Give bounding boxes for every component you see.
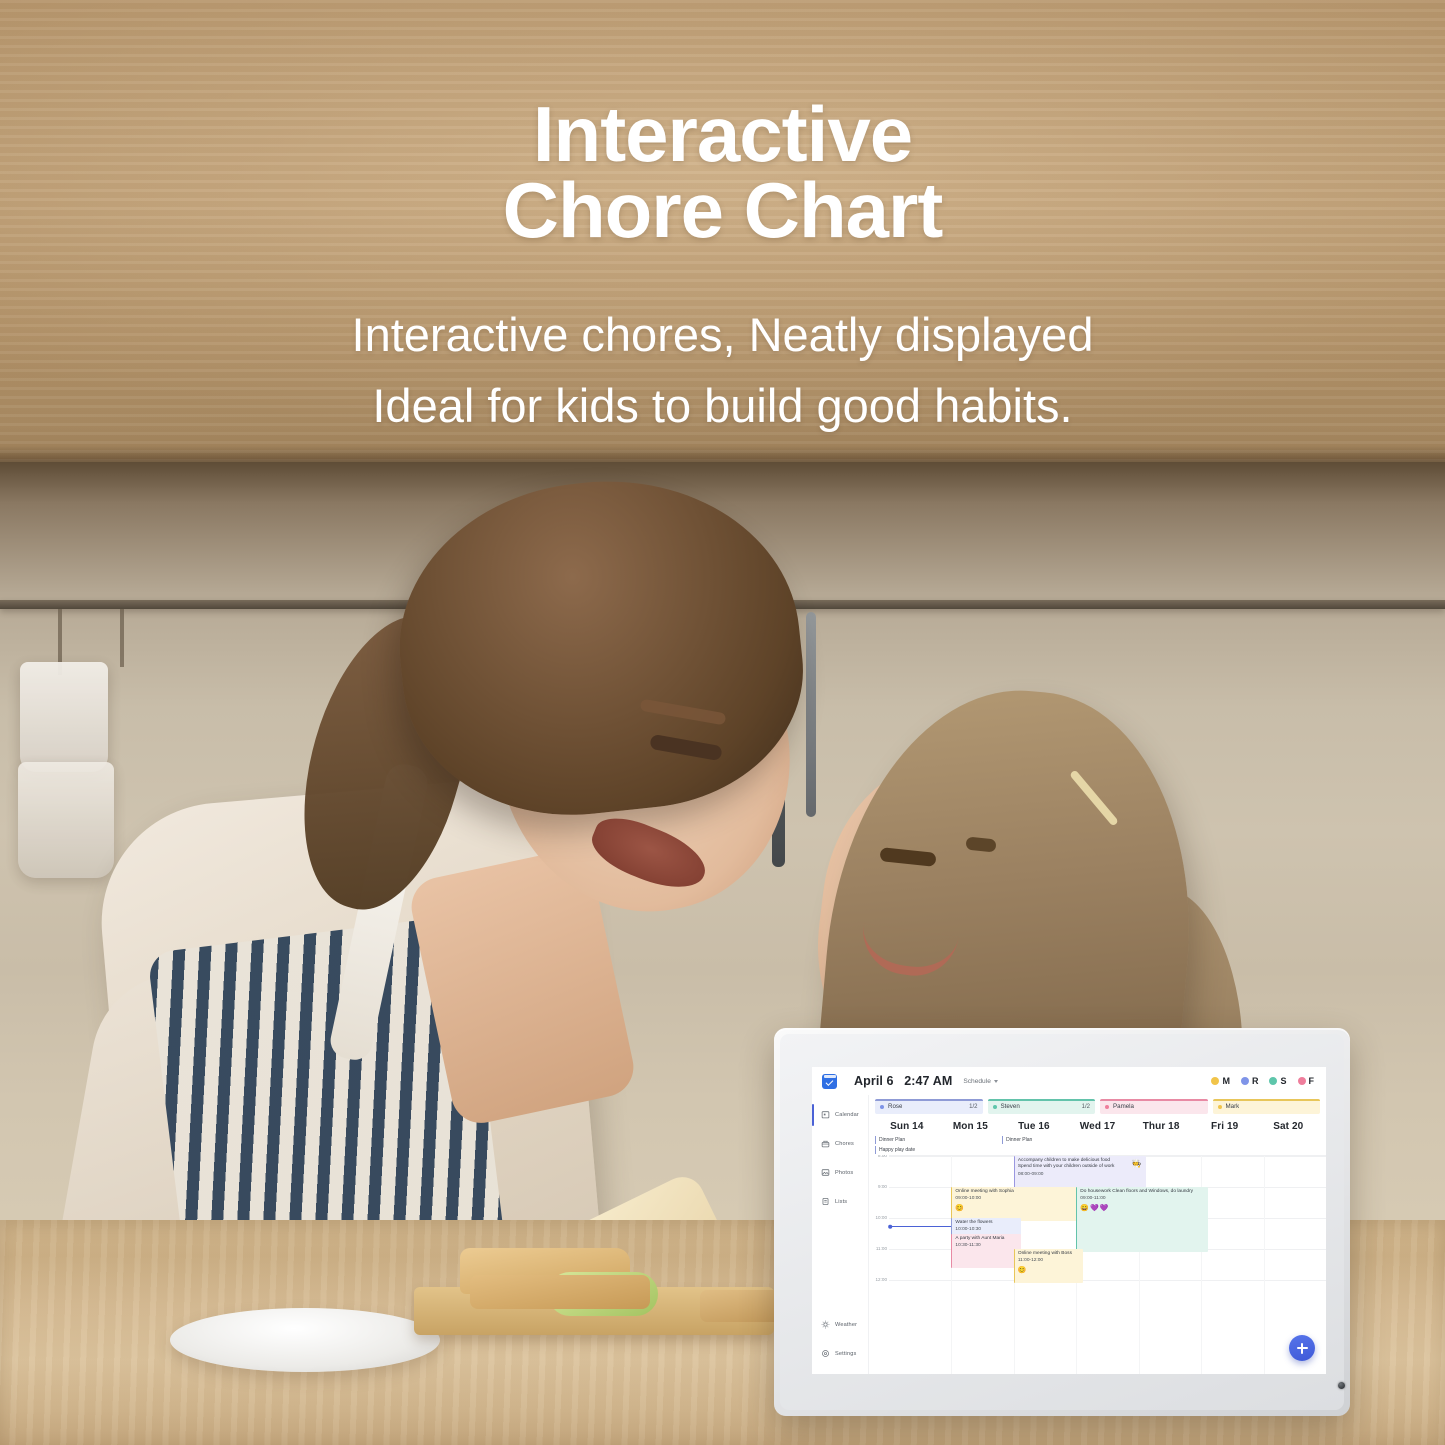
time-label: 8:00 [878, 1155, 887, 1158]
bread-slice [470, 1275, 650, 1309]
event-title: Online meeting with Boss [1018, 1251, 1080, 1257]
calendar-event[interactable]: A party with Aunt Maria10:30-11:30 [951, 1234, 1020, 1268]
poster-headline: Interactive Chore Chart [0, 96, 1445, 249]
app-body: Calendar Chores Photos [812, 1095, 1326, 1374]
all-day-event[interactable]: Dinner Plan [1002, 1136, 1064, 1144]
event-title: Online meeting with Sophia [955, 1189, 1080, 1195]
time-grid-wrapper[interactable]: 8:009:0010:0011:0012:00 Accompany childr… [869, 1155, 1326, 1374]
person-dot [880, 1105, 884, 1109]
calendar-pane: Rose1/2Steven1/2PamelaMark Sun 14Mon 15T… [869, 1095, 1326, 1374]
date-time-display: April 6 2:47 AM [854, 1074, 952, 1088]
event-title: A party with Aunt Maria [955, 1236, 1017, 1242]
sidebar-item-calendar[interactable]: Calendar [812, 1100, 868, 1129]
member-initial: S [1280, 1076, 1286, 1086]
sidebar-label: Chores [835, 1141, 854, 1147]
day-header[interactable]: Tue 16 [1002, 1118, 1066, 1136]
event-hours: 08:00-09:00 [1018, 1172, 1143, 1178]
photos-icon [821, 1168, 830, 1177]
time-label: 10:00 [876, 1215, 888, 1220]
camera-sensor-icon [1338, 1382, 1345, 1389]
sidebar-item-settings[interactable]: Settings [812, 1339, 868, 1368]
sidebar-label: Settings [835, 1351, 856, 1357]
member-initial: M [1222, 1076, 1230, 1086]
day-header[interactable]: Wed 17 [1066, 1118, 1130, 1136]
person-dot [993, 1105, 997, 1109]
time-grid[interactable]: Accompany children to make delicious foo… [889, 1155, 1326, 1374]
app-topbar: April 6 2:47 AM Schedule MRSF [812, 1067, 1326, 1095]
day-header[interactable]: Thur 18 [1129, 1118, 1193, 1136]
person-dot [1105, 1105, 1109, 1109]
member-color-dot [1211, 1077, 1219, 1085]
rail-hook [120, 609, 124, 667]
person-task-count: 1/2 [969, 1104, 977, 1110]
lists-icon [821, 1197, 830, 1206]
event-corner-emoji: 🧑‍🍳 [1132, 1159, 1142, 1170]
member-initial: F [1309, 1076, 1315, 1086]
event-title: Do housework Clean floors and Windows, d… [1080, 1189, 1205, 1195]
subline-line-1: Interactive chores, Neatly displayed [352, 308, 1094, 361]
day-header-row: Sun 14Mon 15Tue 16Wed 17Thur 18Fri 19Sat… [869, 1118, 1326, 1136]
sidebar-label: Lists [835, 1199, 847, 1205]
day-gridline [1264, 1156, 1265, 1374]
event-hours: 10:30-11:30 [955, 1243, 1017, 1249]
chevron-down-icon [994, 1080, 998, 1083]
person-color-bar [1213, 1099, 1321, 1101]
day-header[interactable]: Fri 19 [1193, 1118, 1257, 1136]
headline-line-2: Chore Chart [0, 172, 1445, 248]
subline-line-2: Ideal for kids to build good habits. [372, 379, 1072, 432]
person-filter-row: Rose1/2Steven1/2PamelaMark [869, 1095, 1326, 1118]
current-time-line [889, 1226, 951, 1227]
sidebar-label: Weather [835, 1322, 857, 1328]
all-day-column[interactable] [1129, 1136, 1193, 1155]
all-day-column[interactable] [1193, 1136, 1257, 1155]
calendar-check-icon [822, 1074, 837, 1089]
hour-gridline [889, 1280, 1326, 1281]
sidebar-item-photos[interactable]: Photos [812, 1158, 868, 1187]
event-emoji: 😊 [1018, 1267, 1080, 1274]
view-selector[interactable]: Schedule [963, 1078, 998, 1085]
calendar-event[interactable]: Online meeting with Sophia09:00-10:00😊 [951, 1187, 1083, 1221]
member-chip-m[interactable]: M [1211, 1076, 1230, 1086]
day-header[interactable]: Sun 14 [875, 1118, 939, 1136]
person-dot [1218, 1105, 1222, 1109]
calendar-event[interactable]: Do housework Clean floors and Windows, d… [1076, 1187, 1208, 1252]
sun-icon [821, 1320, 830, 1329]
calendar-event[interactable]: Online meeting with Boss11:00-12:00😊 [1014, 1249, 1083, 1283]
headline-line-1: Interactive [533, 90, 912, 178]
sidebar-item-chores[interactable]: Chores [812, 1129, 868, 1158]
poster-subline: Interactive chores, Neatly displayed Ide… [0, 300, 1445, 441]
calendar-event[interactable]: Accompany children to make delicious foo… [1014, 1156, 1146, 1190]
person-name: Steven [1001, 1103, 1020, 1110]
event-subtitle: Spend time with your children outside of… [1018, 1164, 1143, 1170]
person-card-rose[interactable]: Rose1/2 [875, 1099, 983, 1114]
all-day-row: Dinner PlanHappy play dateDinner Plan [869, 1136, 1326, 1155]
chores-icon [821, 1139, 830, 1148]
event-hours: 09:00-10:00 [955, 1196, 1080, 1202]
event-hours: 09:00-11:00 [1080, 1196, 1205, 1202]
hanging-utensil [806, 612, 816, 817]
event-hours: 10:00-10:30 [955, 1227, 1017, 1233]
current-time: 2:47 AM [904, 1074, 952, 1088]
time-label: 12:00 [876, 1277, 888, 1282]
event-emoji: 😊 [955, 1205, 1080, 1212]
member-filter-list: MRSF [1211, 1076, 1318, 1086]
member-chip-s[interactable]: S [1269, 1076, 1286, 1086]
time-label: 9:00 [878, 1184, 887, 1189]
view-selector-label: Schedule [963, 1078, 991, 1085]
all-day-column[interactable]: Dinner Plan [1002, 1136, 1066, 1155]
day-header[interactable]: Mon 15 [939, 1118, 1003, 1136]
person-task-count: 1/2 [1082, 1104, 1090, 1110]
person-card-mark[interactable]: Mark [1213, 1099, 1321, 1114]
person-name: Mark [1226, 1103, 1240, 1110]
time-label: 11:00 [876, 1246, 887, 1251]
all-day-column[interactable] [939, 1136, 1003, 1155]
calendar-app: April 6 2:47 AM Schedule MRSF [812, 1067, 1326, 1374]
current-date: April 6 [854, 1074, 894, 1088]
sidebar-item-weather[interactable]: Weather [812, 1310, 868, 1339]
event-hours: 11:00-12:00 [1018, 1258, 1080, 1264]
calendar-icon [821, 1110, 830, 1119]
banner-bottom-edge [0, 446, 1445, 462]
person-color-bar [1100, 1099, 1208, 1101]
person-name: Pamela [1113, 1103, 1134, 1110]
add-event-button[interactable] [1289, 1335, 1315, 1361]
app-sidebar: Calendar Chores Photos [812, 1095, 869, 1374]
all-day-event[interactable]: Dinner Plan [875, 1136, 937, 1144]
event-emoji: 😄💜💜 [1080, 1205, 1205, 1212]
event-title: Water the flowers [955, 1220, 1017, 1226]
sidebar-item-lists[interactable]: Lists [812, 1187, 868, 1216]
person-card-pamela[interactable]: Pamela [1100, 1099, 1208, 1114]
member-color-dot [1241, 1077, 1249, 1085]
person-name: Rose [888, 1103, 902, 1110]
all-day-event[interactable]: Happy play date [875, 1146, 937, 1154]
current-time-dot [888, 1225, 892, 1229]
day-header[interactable]: Sat 20 [1256, 1118, 1320, 1136]
all-day-column[interactable] [1256, 1136, 1320, 1155]
sidebar-spacer [812, 1216, 868, 1310]
member-color-dot [1298, 1077, 1306, 1085]
member-color-dot [1269, 1077, 1277, 1085]
member-chip-r[interactable]: R [1241, 1076, 1259, 1086]
all-day-column[interactable] [1066, 1136, 1130, 1155]
sidebar-label: Photos [835, 1170, 853, 1176]
product-poster: Interactive Chore Chart Interactive chor… [0, 0, 1445, 1445]
hanging-mug [20, 662, 108, 772]
time-gutter: 8:009:0010:0011:0012:00 [869, 1155, 889, 1374]
hanging-mug [18, 762, 114, 878]
person-card-steven[interactable]: Steven1/2 [988, 1099, 1096, 1114]
tablet-screen: April 6 2:47 AM Schedule MRSF [812, 1067, 1326, 1374]
white-plate [170, 1308, 440, 1372]
gear-icon [821, 1349, 830, 1358]
all-day-column[interactable]: Dinner PlanHappy play date [875, 1136, 939, 1155]
sidebar-label: Calendar [835, 1112, 859, 1118]
person-color-bar [988, 1099, 1096, 1101]
member-initial: R [1252, 1076, 1259, 1086]
person-color-bar [875, 1099, 983, 1101]
member-chip-f[interactable]: F [1298, 1076, 1315, 1086]
